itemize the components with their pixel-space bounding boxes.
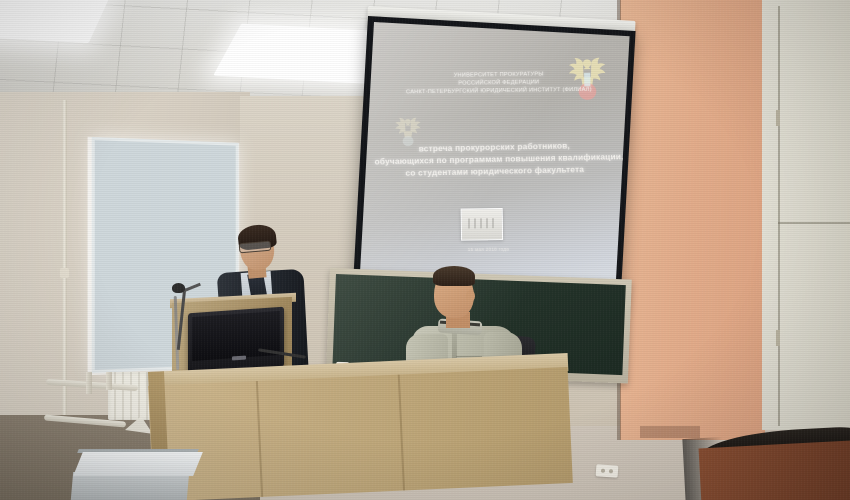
pipe-joint bbox=[60, 268, 69, 278]
equipment-case-front bbox=[71, 472, 189, 500]
slide-title-text: встреча прокурорских работников, обучающ… bbox=[374, 138, 615, 179]
projection-screen-surface: УНИВЕРСИТЕТ ПРОКУРАТУРЫ РОССИЙСКОЙ ФЕДЕР… bbox=[360, 22, 630, 294]
lecture-hall-photograph: УНИВЕРСИТЕТ ПРОКУРАТУРЫ РОССИЙСКОЙ ФЕДЕР… bbox=[0, 0, 850, 500]
equipment-case-top bbox=[73, 452, 203, 476]
slide-date-text: 15 мая 2018 года bbox=[413, 246, 563, 255]
door-frame-line bbox=[778, 6, 780, 426]
door-hinge-lower-icon bbox=[776, 330, 780, 346]
door-panel-line bbox=[778, 222, 850, 224]
presentation-table-front bbox=[148, 367, 573, 500]
participant-ear bbox=[466, 290, 475, 302]
heating-pipe-riser-left bbox=[86, 372, 92, 394]
microphone-head-icon[interactable] bbox=[172, 283, 185, 293]
slide-photo-detail bbox=[468, 218, 496, 228]
table-panel-seam-right bbox=[398, 375, 405, 491]
wooden-cabinet bbox=[699, 440, 850, 500]
door-hinge-upper-icon bbox=[776, 110, 780, 126]
table-panel-seam-left bbox=[256, 381, 263, 497]
door-right[interactable] bbox=[762, 0, 850, 430]
wall-outlet-right[interactable] bbox=[596, 464, 619, 478]
baseboard-right bbox=[640, 426, 700, 438]
monitor-screen bbox=[192, 311, 280, 361]
slide-photo-placeholder bbox=[461, 208, 503, 241]
slide-organization-text: УНИВЕРСИТЕТ ПРОКУРАТУРЫ РОССИЙСКОЙ ФЕДЕР… bbox=[399, 70, 599, 97]
participant-hair bbox=[433, 266, 475, 286]
heating-pipe-riser-right bbox=[106, 372, 112, 390]
wall-peach-panel bbox=[620, 0, 765, 440]
